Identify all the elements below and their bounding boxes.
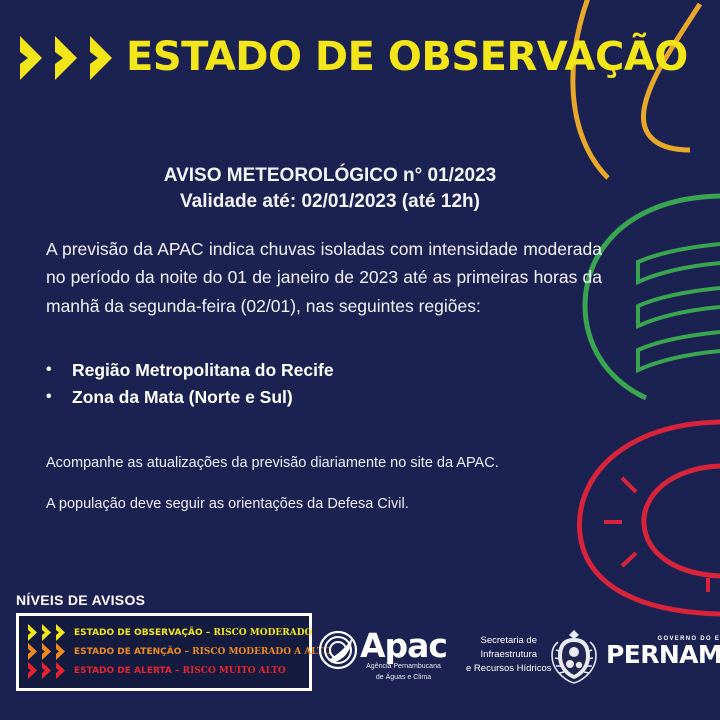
follow-updates-note: Acompanhe as atualizações da previsão di… [46,455,606,471]
chevrons-right-icon [27,643,40,660]
poster-header: ESTADO DE OBSERVAÇÃO [0,0,720,108]
chevrons-right-icon [53,36,85,80]
alert-level-headline: ESTADO DE OBSERVAÇÃO [126,34,688,80]
affected-regions-list: • Região Metropolitana do Recife • Zona … [46,357,566,411]
chevrons-right-icon [41,643,54,660]
chevrons-right-icon [18,36,50,80]
alert-levels-legend: NÍVEIS DE AVISOS ESTADO DE OBSERVAÇÃO – … [16,592,312,691]
region-name: Região Metropolitana do Recife [72,357,334,384]
chevrons-right-icon [27,662,40,679]
legend-risk: RISCO MODERADO A ALTO [192,647,331,657]
chevrons-right-icon [27,624,40,641]
weather-alert-poster: ESTADO DE OBSERVAÇÃO AVISO METEOROLÓGICO… [0,0,720,720]
pernambuco-government-logo: GOVERNO DO ESTADO PERNAMBUCO [606,636,720,667]
legend-chevrons [27,624,68,641]
legend-separator: – [206,628,211,638]
bullet-icon: • [46,384,72,410]
apac-wordmark: Apac [360,630,447,661]
list-item: • Região Metropolitana do Recife [46,357,566,384]
chevrons-right-icon [41,624,54,641]
chevrons-right-icon [41,662,54,679]
legend-chevrons [27,662,68,679]
chevrons-right-icon [88,36,120,80]
chevrons-right-icon [55,662,68,679]
chevrons-right-icon [55,643,68,660]
secretaria-line3: e Recursos Hídricos [466,662,552,676]
advisory-title-block: AVISO METEOROLÓGICO n° 01/2023 Validade … [0,163,660,215]
secretaria-line2: Infraestrutura [466,648,552,662]
legend-separator: – [175,666,180,676]
legend-separator: – [185,647,190,657]
forecast-paragraph: A previsão da APAC indica chuvas isolada… [46,235,602,320]
region-name: Zona da Mata (Norte e Sul) [72,384,293,411]
apac-tagline-line1: Agência Pernambucana [360,662,447,671]
civil-defense-note: A população deve seguir as orientações d… [46,496,606,512]
advisory-number: AVISO METEOROLÓGICO n° 01/2023 [0,163,660,189]
legend-title: NÍVEIS DE AVISOS [16,592,312,608]
legend-level: ESTADO DE ATENÇÃO [74,647,181,657]
legend-level: ESTADO DE OBSERVAÇÃO [74,628,203,638]
legend-risk: RISCO MODERADO [213,628,312,638]
pernambuco-coat-of-arms-icon [546,626,602,688]
red-arc-icon [579,422,720,614]
green-arc-icon [585,196,720,398]
secretaria-logo: Secretaria de Infraestrutura e Recursos … [466,634,552,675]
legend-box: ESTADO DE OBSERVAÇÃO – RISCO MODERADO ES… [16,613,312,691]
bullet-icon: • [46,357,72,383]
legend-row-observacao: ESTADO DE OBSERVAÇÃO – RISCO MODERADO [27,623,301,642]
legend-label: ESTADO DE ATENÇÃO – RISCO MODERADO A ALT… [74,647,331,657]
legend-chevrons [27,643,68,660]
legend-row-atencao: ESTADO DE ATENÇÃO – RISCO MODERADO A ALT… [27,642,301,661]
header-chevrons [18,36,120,80]
legend-label: ESTADO DE OBSERVAÇÃO – RISCO MODERADO [74,628,312,638]
advisory-validity: Validade até: 02/01/2023 (até 12h) [0,189,660,215]
apac-logo: Apac Agência Pernambucana de Águas e Cli… [318,630,447,682]
apac-tagline-line2: de Águas e Clima [360,673,447,682]
green-wind-lines-icon [638,244,720,370]
secretaria-line1: Secretaria de [466,634,552,648]
chevrons-right-icon [55,624,68,641]
legend-risk: RISCO MUITO ALTO [183,666,286,676]
red-sun-icon [644,466,720,576]
pernambuco-wordmark: PERNAMBUCO [606,642,720,667]
red-sun-rays-icon [604,478,708,592]
legend-level: ESTADO DE ALERTA [74,666,172,676]
apac-swirl-icon [318,630,358,670]
footer-logos: Apac Agência Pernambucana de Águas e Cli… [318,620,718,704]
legend-row-alerta: ESTADO DE ALERTA – RISCO MUITO ALTO [27,661,301,680]
list-item: • Zona da Mata (Norte e Sul) [46,384,566,411]
legend-label: ESTADO DE ALERTA – RISCO MUITO ALTO [74,666,286,676]
